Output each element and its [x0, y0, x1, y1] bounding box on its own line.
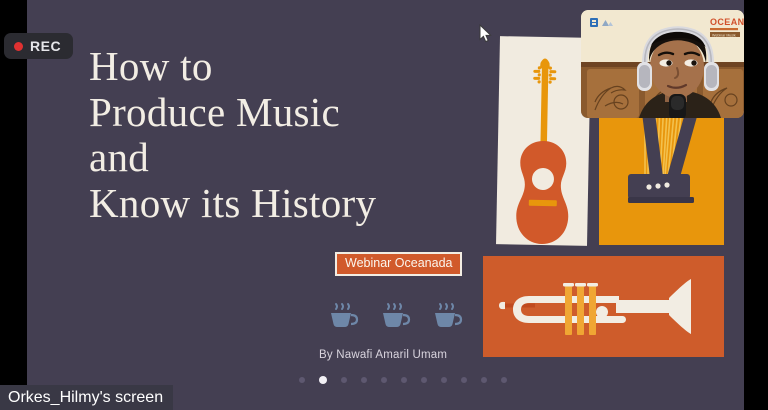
trumpet-icon [483, 256, 724, 357]
letterbox-bar-right [744, 0, 768, 410]
pagination-dot[interactable] [381, 377, 387, 383]
pagination-dot[interactable] [501, 377, 507, 383]
pagination-dot[interactable] [361, 377, 367, 383]
guitar-panel [496, 36, 591, 246]
pagination-dot[interactable] [481, 377, 487, 383]
pagination-dot[interactable] [461, 377, 467, 383]
pagination-dot-active[interactable] [319, 376, 327, 384]
webcam-video-feed: OCEANADA Webinar Musik [581, 10, 744, 118]
record-dot-icon [14, 42, 23, 51]
slide-byline: By Nawafi Amaril Umam [319, 349, 447, 361]
recording-label: REC [30, 39, 61, 53]
coffee-cup-icon [379, 300, 411, 330]
coffee-cup-icon [327, 300, 359, 330]
webinar-badge: Webinar Oceanada [335, 252, 462, 276]
pagination-dot[interactable] [441, 377, 447, 383]
screen-share-label: Orkes_Hilmy's screen [0, 385, 173, 410]
svg-text:OCEANADA: OCEANADA [710, 17, 744, 27]
meeting-screen-share-view: How to Produce Music and Know its Histor… [0, 0, 768, 410]
pagination-dot[interactable] [341, 377, 347, 383]
slide-pagination[interactable] [299, 376, 507, 384]
pagination-dot[interactable] [401, 377, 407, 383]
coffee-cup-icon [431, 300, 463, 330]
recording-indicator[interactable]: REC [4, 33, 73, 59]
trumpet-panel [483, 256, 724, 357]
acoustic-guitar-icon [496, 36, 591, 246]
webcam-video-tile[interactable]: OCEANADA Webinar Musik [581, 10, 744, 118]
coffee-cups-decoration [327, 300, 463, 330]
letterbox-bar-left [0, 0, 27, 410]
slide-title: How to Produce Music and Know its Histor… [89, 44, 459, 226]
pagination-dot[interactable] [299, 377, 305, 383]
pagination-dot[interactable] [421, 377, 427, 383]
svg-text:Webinar Musik: Webinar Musik [712, 33, 736, 37]
